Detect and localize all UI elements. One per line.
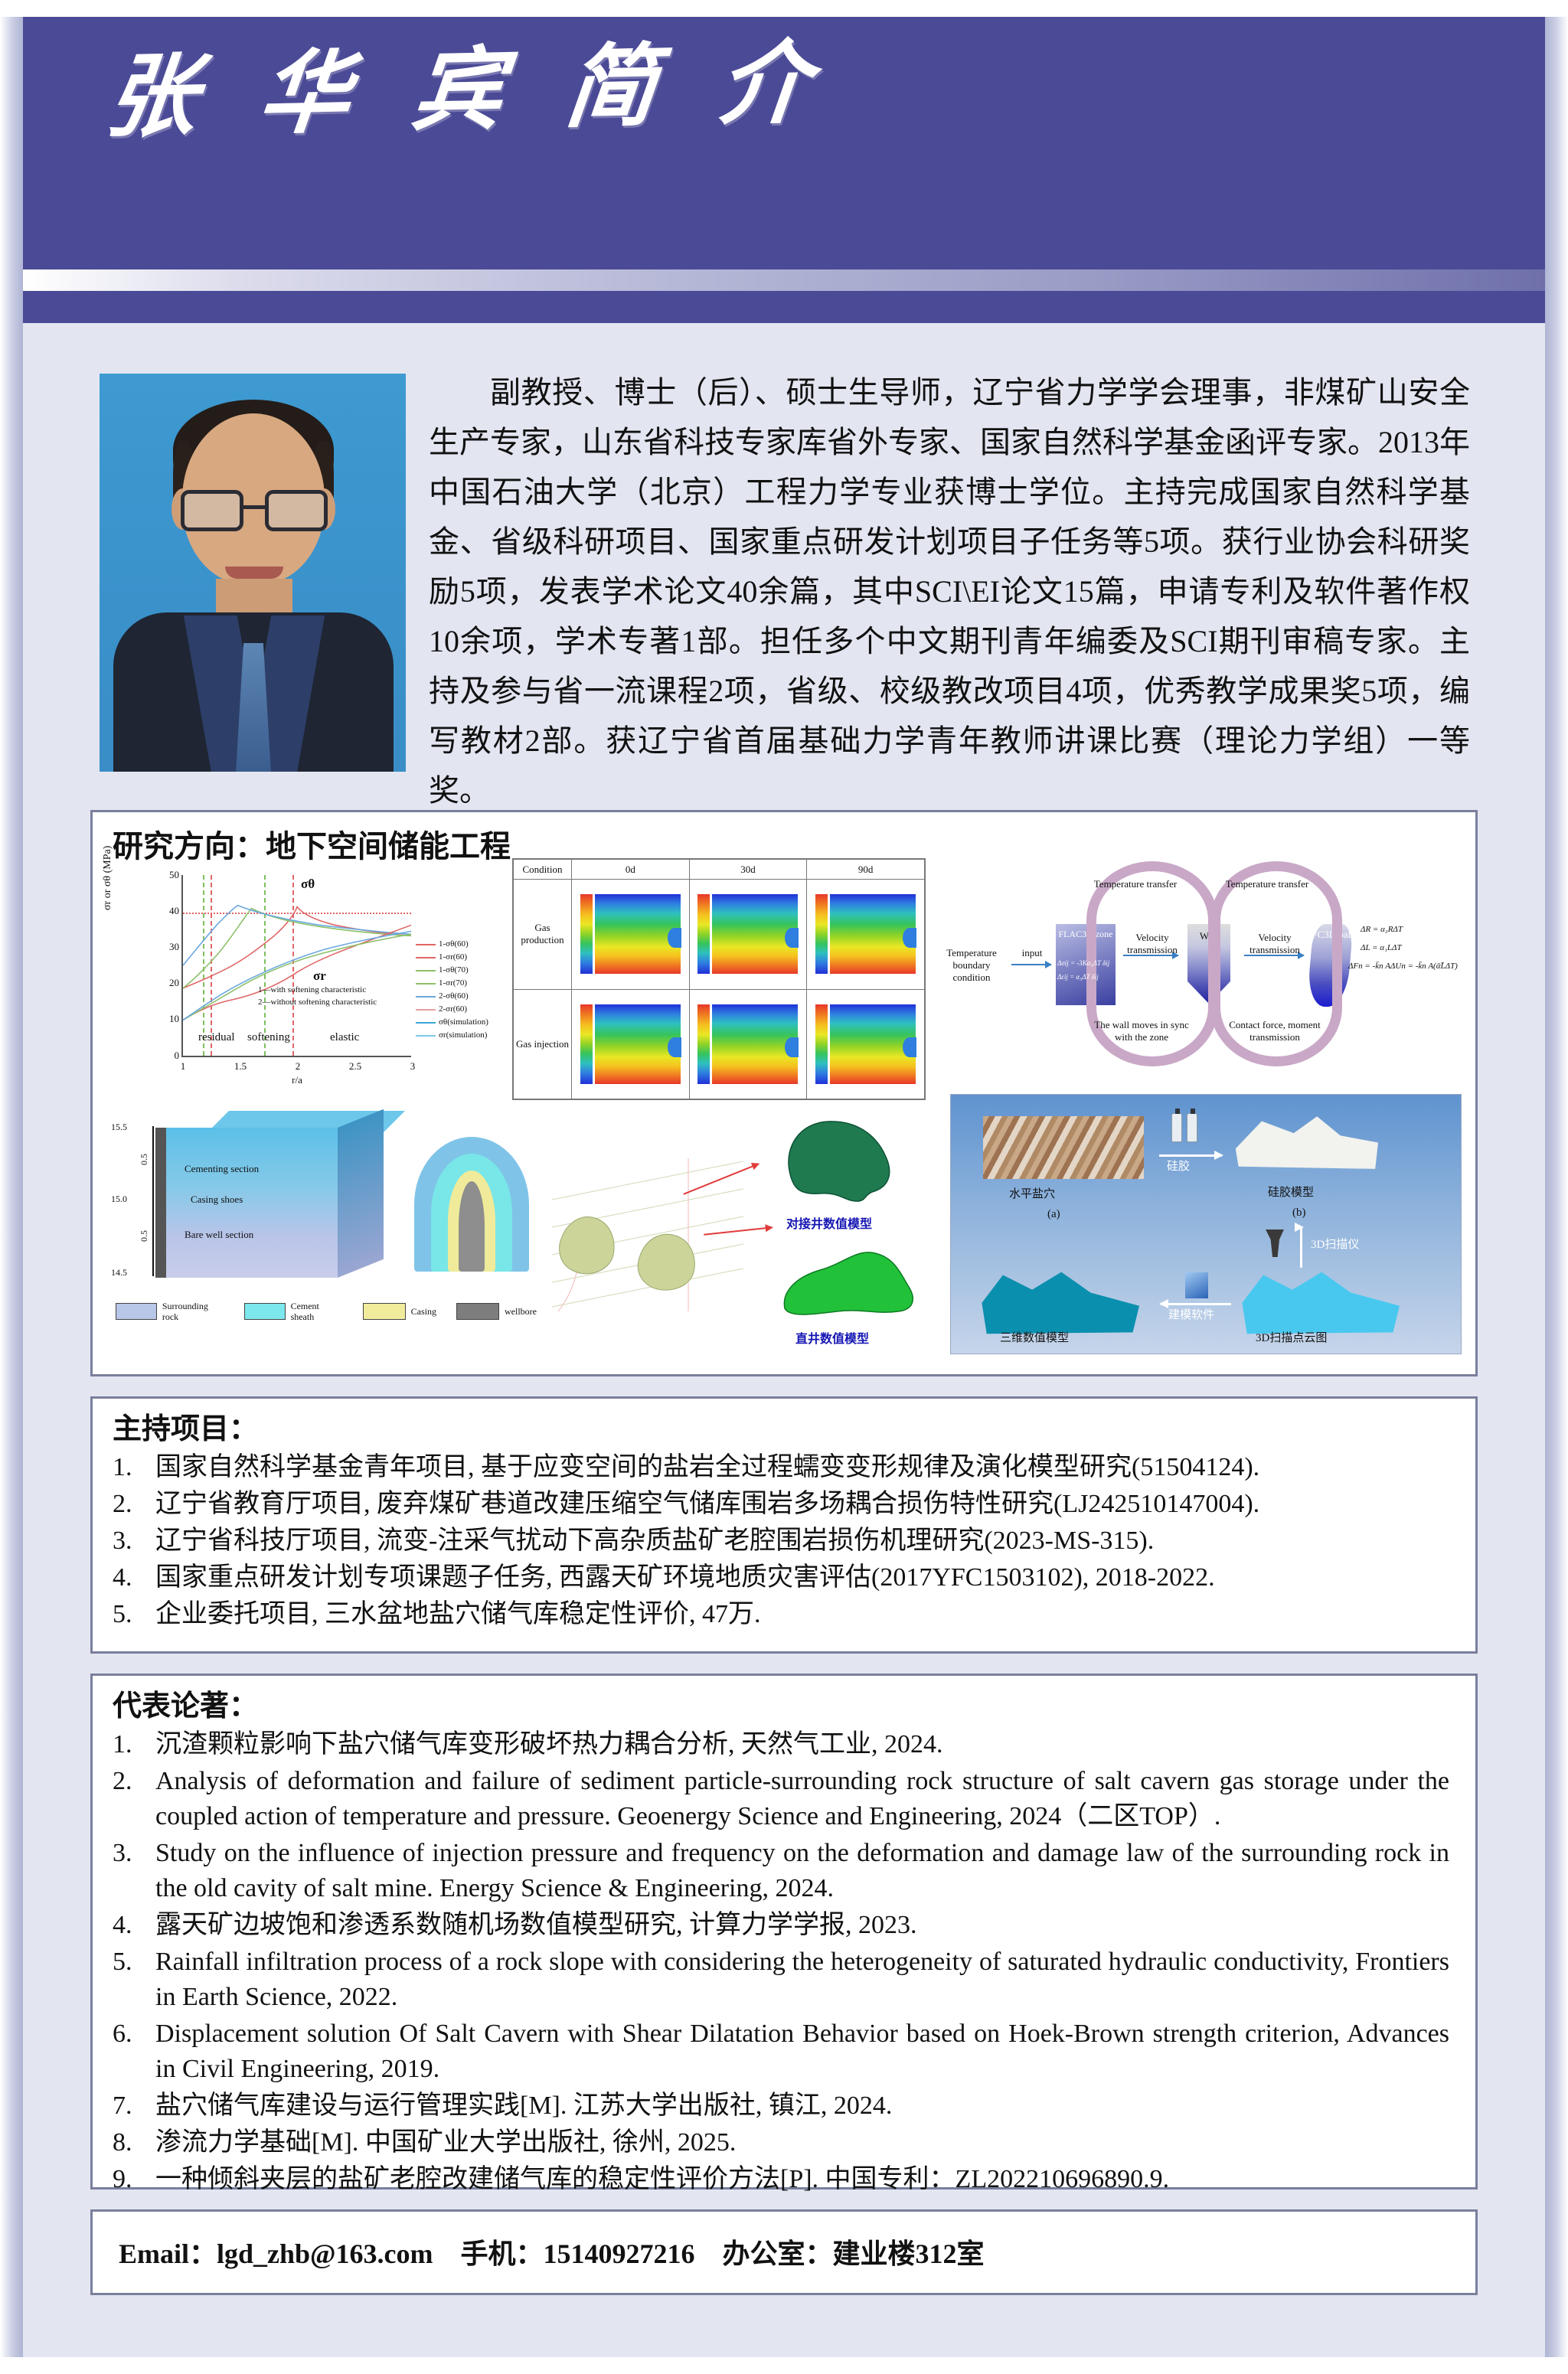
list-item-text: 国家重点研发计划专项课题子任务, 西露天矿环境地质灾害评估(2017YFC150…: [155, 1563, 1215, 1592]
figure-c-arrow-temp-transfer-2: Temperature transfer: [1221, 878, 1313, 890]
legend-item: 1-σr(60): [416, 951, 488, 964]
figure-f-arrow-scan: [1300, 1226, 1302, 1268]
list-item-number: 9.: [113, 2162, 151, 2197]
figure-a-ytick-0: 0: [175, 1050, 180, 1062]
list-item-text: Displacement solution Of Salt Cavern wit…: [155, 2020, 1449, 2083]
legend-item: 2-σθ(60): [416, 990, 488, 1003]
figure-f-point-cloud-model: [1237, 1265, 1400, 1338]
list-item-text: Analysis of deformation and failure of s…: [155, 1767, 1449, 1830]
row-label-gas-production: Gas production: [514, 880, 572, 990]
page-frame: 张 华 宾 简 介 副教授、博士（后）、硕士生导师，辽宁省力学学会理事，非煤矿山…: [0, 0, 1568, 2374]
contact-line: Email：lgd_zhb@163.com手机：15140927216办公室：建…: [93, 2212, 1475, 2271]
figure-a-xlabel: r/a: [292, 1074, 302, 1086]
condition-table: Condition 0d 30d 90d Gas production Gas …: [513, 859, 925, 1099]
legend-label: 1-σθ(70): [439, 964, 469, 977]
figure-a-ytick-50: 50: [169, 869, 179, 881]
banner-sheen-divider: [23, 269, 1545, 291]
figure-a-ytick-10: 10: [169, 1013, 179, 1025]
figure-cavern-numeric-models: 对接井数值模型 直井数值模型: [552, 1108, 935, 1353]
list-item-number: 2.: [113, 1764, 151, 1799]
list-item: 4.国家重点研发计划专项课题子任务, 西露天矿环境地质灾害评估(2017YFC1…: [113, 1560, 1449, 1595]
list-item: 4.露天矿边坡饱和渗透系数随机场数值模型研究, 计算力学学报, 2023.: [113, 1908, 1449, 1943]
figure-f-salt-cavern-photo: [983, 1116, 1144, 1179]
figure-temperature-condition-table: Condition 0d 30d 90d Gas production Gas …: [512, 858, 926, 1100]
legend-label: 2-σθ(60): [439, 990, 469, 1003]
list-item-number: 6.: [113, 2016, 151, 2052]
figure-stress-strain-chart: σr or σθ (MPa) 0 10 20 30 40 50 1 1.5 2 …: [108, 864, 506, 1094]
list-item-number: 5.: [113, 1597, 151, 1632]
figure-a-ylabel: σr or σθ (MPa): [102, 846, 114, 910]
legend-label: Cement sheath: [291, 1301, 343, 1322]
legend-label: wellbore: [505, 1306, 537, 1317]
contour-cell: [572, 880, 690, 990]
figure-d-depth-14-5: 14.5: [111, 1267, 127, 1278]
figure-f-arrow-modeling: [1161, 1303, 1231, 1305]
figure-f-caption-b: 硅胶模型: [1268, 1185, 1314, 1200]
figure-f-silicone-model: [1233, 1112, 1378, 1171]
list-item: 6.Displacement solution Of Salt Cavern w…: [113, 2016, 1449, 2087]
email-label: Email：: [119, 2238, 217, 2269]
email-link[interactable]: lgd_zhb@163.com: [217, 2238, 433, 2269]
publications-box: 代表论著： 1.沉渣颗粒影响下盐穴储气库变形破坏热力耦合分析, 天然气工业, 2…: [90, 1674, 1478, 2190]
figure-a-annotation-sigma-r: σr: [313, 968, 326, 984]
figure-a-legend: 1-σθ(60) 1-σr(60) 1-σθ(70) 1-σr(70) 2-σθ…: [416, 938, 488, 1042]
figure-c-arrow-velocity-2: Velocity transmission: [1238, 932, 1312, 956]
figure-f-tag-b: (b): [1292, 1205, 1306, 1220]
projects-list: 1.国家自然科学基金青年项目, 基于应变空间的盐岩全过程蠕变变形规律及演化模型研…: [93, 1450, 1475, 1632]
banner-footer-band: [23, 291, 1545, 323]
figure-f-caption-c: 3D扫描点云图: [1256, 1331, 1327, 1346]
figure-c-equation-1: ΔR = α₃RΔT: [1361, 922, 1403, 937]
legend-item: σr(simulation): [416, 1029, 488, 1042]
figure-e-model-horizontal: [774, 1115, 912, 1207]
figure-d-wellbore-column: [155, 1128, 166, 1278]
legend-label: 1-σθ(60): [439, 938, 469, 951]
list-item-number: 2.: [113, 1487, 151, 1522]
glasses-lens-right: [265, 490, 328, 531]
legend-label: Casing: [411, 1306, 436, 1317]
list-item-number: 7.: [113, 2088, 151, 2124]
list-item-text: 渗流力学基础[M]. 中国矿业大学出版社, 徐州, 2025.: [155, 2128, 736, 2157]
publications-title: 代表论著：: [93, 1676, 1475, 1727]
office-value: 建业楼312室: [833, 2238, 985, 2269]
figure-c-zone-equation-2: Δεij = α₅ΔT δij: [1057, 970, 1099, 985]
figure-d-span-lower: 0.5: [139, 1230, 150, 1242]
silicone-bottle-icon-2: [1187, 1113, 1197, 1142]
list-item: 3.Study on the influence of injection pr…: [113, 1836, 1449, 1906]
list-item-text: 沉渣颗粒影响下盐穴储气库变形破坏热力耦合分析, 天然气工业, 2024.: [155, 1730, 943, 1758]
page-edge-top: [0, 0, 1568, 17]
figure-a-ytick-20: 20: [169, 977, 179, 989]
table-header-row: Condition 0d 30d 90d: [514, 860, 925, 880]
figure-wellbore-structure: 15.5 15.0 14.5 0.5 0.5 Cementing section…: [108, 1103, 537, 1356]
row-label-gas-injection: Gas injection: [514, 989, 572, 1099]
figure-a-note-1: 1—with softening characteristic: [258, 985, 366, 994]
list-item-text: Rainfall infiltration process of a rock …: [155, 1948, 1449, 2011]
figure-c-equation-2: ΔL = α₁LΔT: [1361, 941, 1402, 955]
modeling-software-icon: [1185, 1272, 1208, 1298]
figure-c-equation-3: ΔFn = -k̄n AΔUn = -k̄n A(ᾱL̄ΔT): [1348, 959, 1458, 974]
column-header-0d: 0d: [572, 860, 690, 880]
list-item: 7.盐穴储气库建设与运行管理实践[M]. 江苏大学出版社, 镇江, 2024.: [113, 2088, 1449, 2124]
figure-a-ytick-40: 40: [169, 905, 179, 917]
figure-f-arrow-label-modeling: 建模软件: [1168, 1308, 1214, 1323]
figure-salt-cavern-workflow: 水平盐穴 (a) 硅胶 硅胶模型 (b) 3D扫描仪 3D扫描点云图 建模软件 …: [950, 1094, 1462, 1354]
figure-a-xtick-1-5: 1.5: [234, 1060, 247, 1073]
legend-item: Surrounding rock: [116, 1301, 224, 1322]
legend-label: 2-σr(60): [439, 1003, 467, 1016]
ring-wellbore: [459, 1181, 485, 1272]
figure-f-numeric-model: [977, 1265, 1139, 1338]
phone-value: 15140927216: [544, 2238, 695, 2269]
figure-a-zone-elastic: elastic: [330, 1031, 359, 1044]
figure-a-xtick-2: 2: [296, 1060, 301, 1073]
legend-item: Casing: [363, 1303, 436, 1320]
figure-e-model-vertical: [779, 1244, 921, 1324]
legend-label: Surrounding rock: [162, 1301, 224, 1322]
glasses-lens-left: [181, 490, 243, 531]
header-banner: 张 华 宾 简 介: [23, 17, 1545, 269]
list-item: 1.国家自然科学基金青年项目, 基于应变空间的盐岩全过程蠕变变形规律及演化模型研…: [113, 1450, 1449, 1485]
list-item: 5.企业委托项目, 三水盆地盐穴储气库稳定性评价, 47万.: [113, 1597, 1449, 1632]
figure-c-arrow-temp-transfer-1: Temperature transfer: [1089, 878, 1181, 890]
projects-title: 主持项目：: [93, 1399, 1475, 1450]
list-item-number: 4.: [113, 1560, 151, 1595]
list-item-number: 3.: [113, 1836, 151, 1871]
legend-item: 1-σθ(60): [416, 938, 488, 951]
list-item: 5.Rainfall infiltration process of a roc…: [113, 1945, 1449, 2015]
glasses-icon: [179, 490, 329, 533]
figure-a-xtick-3: 3: [410, 1060, 416, 1073]
figure-f-arrow-silicone: [1159, 1154, 1222, 1157]
contour-cell: [807, 989, 925, 1099]
list-item: 3.辽宁省科技厅项目, 流变-注采气扰动下高杂质盐矿老腔围岩损伤机理研究(202…: [113, 1523, 1449, 1559]
legend-label: 1-σr(60): [439, 951, 467, 964]
figure-flac3d-pfc3d-coupling: Temperature boundary condition input FLA…: [935, 857, 1463, 1102]
portrait-photo: [100, 374, 406, 772]
page-edge-bottom: [0, 2357, 1568, 2374]
figure-a-zone-softening: softening: [247, 1031, 290, 1044]
figure-f-tag-a: (a): [1047, 1207, 1060, 1222]
legend-item: 1-σθ(70): [416, 964, 488, 977]
legend-item: wellbore: [456, 1303, 537, 1320]
list-item-number: 5.: [113, 1945, 151, 1980]
list-item-text: Study on the influence of injection pres…: [155, 1839, 1449, 1902]
figure-d-legend: Surrounding rock Cement sheath Casing we…: [116, 1301, 537, 1322]
biography-text: 副教授、博士（后）、硕士生导师，辽宁省力学学会理事，非煤矿山安全生产专家，山东省…: [429, 367, 1470, 815]
scanner-icon: [1263, 1229, 1286, 1257]
figure-f-arrow-label-silicone: 硅胶: [1167, 1159, 1190, 1174]
legend-label: σr(simulation): [439, 1029, 487, 1042]
figure-d-label-bare-well: Bare well section: [185, 1229, 253, 1241]
figure-d-depth-15-5: 15.5: [111, 1122, 127, 1133]
figure-a-xtick-2-5: 2.5: [349, 1060, 361, 1073]
figure-c-input-arrow: [1011, 964, 1051, 965]
legend-label: 1-σr(70): [439, 977, 467, 990]
figure-c-arrow-contact-force: Contact force, moment transmission: [1226, 1019, 1324, 1043]
table-row: Gas production: [514, 880, 925, 990]
figure-a-annotation-sigma-theta: σθ: [301, 877, 315, 892]
page-edge-left: [0, 0, 23, 2374]
page-edge-right: [1545, 0, 1568, 2374]
column-header-condition: Condition: [514, 860, 572, 880]
figure-c-input-label: Temperature boundary condition: [935, 947, 1008, 984]
publications-list: 1.沉渣颗粒影响下盐穴储气库变形破坏热力耦合分析, 天然气工业, 2024. 2…: [93, 1727, 1475, 2197]
figure-d-block-front: [162, 1128, 338, 1278]
figure-d-block-side: [338, 1109, 384, 1278]
figure-a-zone-residual: residual: [198, 1031, 234, 1044]
figure-f-arrow-label-scan: 3D扫描仪: [1311, 1237, 1359, 1252]
office-label: 办公室：: [723, 2238, 833, 2269]
contour-cell: [689, 880, 807, 990]
list-item: 1.沉渣颗粒影响下盐穴储气库变形破坏热力耦合分析, 天然气工业, 2024.: [113, 1727, 1449, 1762]
figure-a-curves: [183, 875, 411, 1056]
list-item-text: 国家自然科学基金青年项目, 基于应变空间的盐岩全过程蠕变变形规律及演化模型研究(…: [155, 1453, 1259, 1481]
research-direction-title: 研究方向：地下空间储能工程: [113, 821, 511, 866]
figure-e-label-horizontal-well: 对接井数值模型: [786, 1213, 872, 1232]
glasses-bridge: [243, 505, 265, 509]
list-item-number: 1.: [113, 1450, 151, 1485]
list-item-text: 辽宁省教育厅项目, 废弃煤矿巷道改建压缩空气储库围岩多场耦合损伤特性研究(LJ2…: [155, 1490, 1259, 1518]
column-header-90d: 90d: [807, 860, 925, 880]
contour-cell: [572, 989, 690, 1099]
figure-e-label-vertical-well: 直井数值模型: [795, 1328, 869, 1347]
page-title: 张 华 宾 简 介: [102, 38, 834, 144]
legend-item: σθ(simulation): [416, 1016, 488, 1029]
table-row: Gas injection: [514, 989, 925, 1099]
figure-d-span-upper: 0.5: [139, 1154, 150, 1165]
figure-c-bottom-cycle-right: [1210, 949, 1342, 1066]
list-item-text: 企业委托项目, 三水盆地盐穴储气库稳定性评价, 47万.: [155, 1600, 761, 1628]
figure-d-depth-15-0: 15.0: [111, 1194, 127, 1205]
list-item-number: 4.: [113, 1908, 151, 1943]
list-item-text: 一种倾斜夹层的盐矿老腔改建储气库的稳定性评价方法[P]. 中国专利：ZL2022…: [155, 2165, 1169, 2193]
list-item: 2.辽宁省教育厅项目, 废弃煤矿巷道改建压缩空气储库围岩多场耦合损伤特性研究(L…: [113, 1487, 1449, 1522]
contour-cell: [807, 880, 925, 990]
figure-f-caption-d: 三维数值模型: [1000, 1331, 1069, 1346]
figure-a-plot-area: 0 10 20 30 40 50 1 1.5 2 2.5 3 r/a: [181, 875, 411, 1057]
figure-a-note-2: 2—without softening characteristic: [258, 998, 377, 1007]
figure-a-xtick-1: 1: [181, 1060, 186, 1073]
legend-item: Cement sheath: [244, 1301, 343, 1322]
legend-item: 1-σr(70): [416, 977, 488, 990]
figure-f-caption-a: 水平盐穴: [1009, 1187, 1055, 1202]
list-item: 8.渗流力学基础[M]. 中国矿业大学出版社, 徐州, 2025.: [113, 2125, 1449, 2160]
column-header-30d: 30d: [689, 860, 807, 880]
phone-label: 手机：: [461, 2238, 544, 2269]
list-item-number: 8.: [113, 2125, 151, 2160]
figure-c-zone-equation-1: Δσij = -3Kα₅ΔT δij: [1057, 956, 1109, 971]
figure-d-depth-axis: [152, 1126, 154, 1276]
research-direction-box: 研究方向：地下空间储能工程 σr or σθ (MPa) 0 10 20 30 …: [90, 810, 1478, 1376]
portrait-mouth: [225, 567, 283, 579]
figure-a-ytick-30: 30: [169, 941, 179, 953]
contact-box: Email：lgd_zhb@163.com手机：15140927216办公室：建…: [90, 2209, 1478, 2295]
legend-item: 2-σr(60): [416, 1003, 488, 1016]
legend-label: σθ(simulation): [439, 1016, 488, 1029]
silicone-bottle-icon-1: [1171, 1113, 1182, 1142]
list-item: 9.一种倾斜夹层的盐矿老腔改建储气库的稳定性评价方法[P]. 中国专利：ZL20…: [113, 2162, 1449, 2197]
list-item-number: 3.: [113, 1523, 151, 1559]
list-item-text: 露天矿边坡饱和渗透系数随机场数值模型研究, 计算力学学报, 2023.: [155, 1911, 917, 1939]
contour-cell: [689, 989, 807, 1099]
list-item-text: 辽宁省科技厅项目, 流变-注采气扰动下高杂质盐矿老腔围岩损伤机理研究(2023-…: [155, 1527, 1154, 1555]
figure-c-arrow-velocity-1: Velocity transmission: [1116, 932, 1189, 956]
figure-d-label-cementing: Cementing section: [185, 1163, 259, 1175]
list-item: 2.Analysis of deformation and failure of…: [113, 1764, 1449, 1834]
figure-e-wireframe: [552, 1154, 782, 1322]
figure-c-input-arrow-label: input: [1013, 947, 1051, 959]
list-item-number: 1.: [113, 1727, 151, 1762]
figure-d-label-casing-shoes: Casing shoes: [191, 1194, 243, 1206]
list-item-text: 盐穴储气库建设与运行管理实践[M]. 江苏大学出版社, 镇江, 2024.: [155, 2092, 892, 2120]
figure-c-arrow-wall-sync: The wall moves in sync with the zone: [1093, 1019, 1191, 1043]
projects-box: 主持项目： 1.国家自然科学基金青年项目, 基于应变空间的盐岩全过程蠕变变形规律…: [90, 1396, 1478, 1654]
figure-d-cylinder-detail: [414, 1137, 529, 1279]
